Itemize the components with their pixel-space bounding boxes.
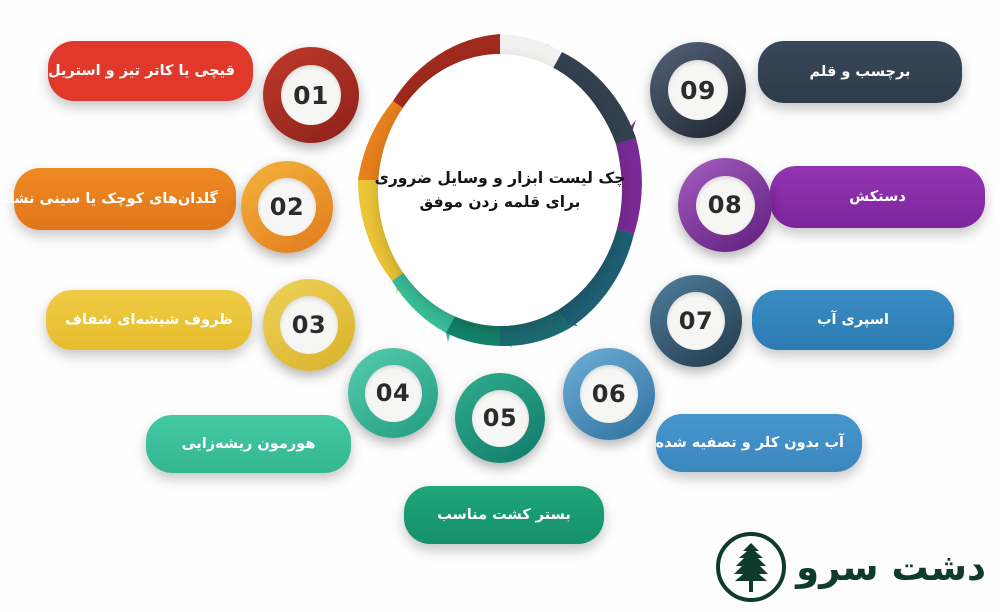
step-number-text-03: 03 xyxy=(292,311,326,339)
step-number-text-09: 09 xyxy=(680,76,716,105)
brand-name: دشت سرو xyxy=(796,549,986,586)
infographic-canvas: چک لیست ابزار و وسایل ضروری برای قلمه زد… xyxy=(0,0,1000,612)
step-number-bubble-03[interactable]: 03 xyxy=(263,279,355,371)
step-label-text-01: قیچی یا کاتر تیز و استریل xyxy=(30,63,253,79)
step-number-bubble-07[interactable]: 07 xyxy=(650,275,742,367)
step-label-text-03: ظروف شیشه‌ای شفاف xyxy=(46,312,252,328)
step-label-text-08: دستکش xyxy=(770,189,985,205)
step-label-text-09: برچسب و قلم xyxy=(758,64,962,80)
step-number-bubble-05[interactable]: 05 xyxy=(455,373,545,463)
step-label-05[interactable]: بستر کشت مناسب xyxy=(404,486,604,544)
step-number-bubble-09[interactable]: 09 xyxy=(650,42,746,138)
step-label-01[interactable]: قیچی یا کاتر تیز و استریل xyxy=(48,41,253,101)
step-number-text-04: 04 xyxy=(376,379,410,407)
step-label-09[interactable]: برچسب و قلم xyxy=(758,41,962,103)
page-title-line1: چک لیست ابزار و وسایل ضروری xyxy=(375,166,626,190)
step-number-text-02: 02 xyxy=(270,193,304,221)
step-label-04[interactable]: هورمون ریشه‌زایی xyxy=(146,415,351,473)
step-label-03[interactable]: ظروف شیشه‌ای شفاف xyxy=(46,290,252,350)
page-title: چک لیست ابزار و وسایل ضروری برای قلمه زد… xyxy=(361,166,640,214)
step-number-bubble-04[interactable]: 04 xyxy=(348,348,438,438)
step-number-text-07: 07 xyxy=(679,307,713,335)
step-number-text-01: 01 xyxy=(293,81,329,110)
step-number-bubble-08[interactable]: 08 xyxy=(678,158,772,252)
page-title-line2: برای قلمه زدن موفق xyxy=(375,190,626,214)
step-number-text-08: 08 xyxy=(708,191,742,219)
step-label-text-05: بستر کشت مناسب xyxy=(404,507,604,523)
step-label-08[interactable]: دستکش xyxy=(770,166,985,228)
step-label-text-07: اسپری آب xyxy=(752,312,954,328)
step-label-06[interactable]: آب بدون کلر و تصفیه شده xyxy=(656,414,862,472)
step-label-text-02: گلدان‌های کوچک یا سینی نشاء xyxy=(0,191,236,207)
step-label-07[interactable]: اسپری آب xyxy=(752,290,954,350)
step-number-text-06: 06 xyxy=(592,380,626,408)
brand-logo: دشت سرو xyxy=(716,532,986,602)
step-label-02[interactable]: گلدان‌های کوچک یا سینی نشاء xyxy=(14,168,236,230)
step-label-text-04: هورمون ریشه‌زایی xyxy=(146,436,351,452)
step-number-text-05: 05 xyxy=(483,404,517,432)
central-wheel: چک لیست ابزار و وسایل ضروری برای قلمه زد… xyxy=(352,28,648,352)
wheel-center-disc: چک لیست ابزار و وسایل ضروری برای قلمه زد… xyxy=(378,54,622,326)
cypress-tree-icon xyxy=(716,532,786,602)
step-number-bubble-02[interactable]: 02 xyxy=(241,161,333,253)
step-number-bubble-06[interactable]: 06 xyxy=(563,348,655,440)
step-label-text-06: آب بدون کلر و تصفیه شده xyxy=(638,435,862,451)
step-number-bubble-01[interactable]: 01 xyxy=(263,47,359,143)
